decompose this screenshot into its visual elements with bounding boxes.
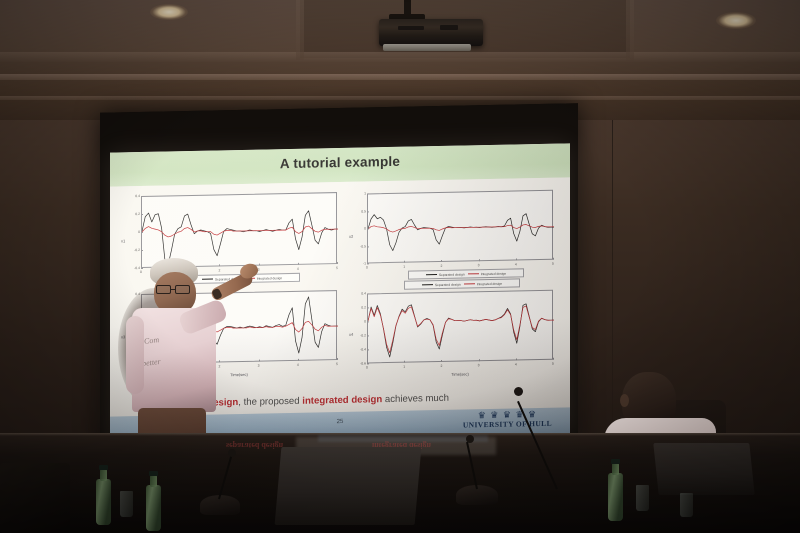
x-tick-label: 4 [512,362,520,366]
legend-swatch [422,284,433,285]
water-bottle-3 [608,473,623,521]
microphone-head-2 [466,435,474,443]
y-tick-label: 0.5 [355,209,366,213]
legend-label: Integrated design [477,281,502,286]
y-tick-mark [367,293,369,294]
y-tick-label: 0 [129,230,140,234]
legend-item: Separated design [422,282,461,287]
x-tick-label: 2 [437,363,445,367]
water-bottle-1-neck [100,469,107,481]
x-tick-label: 3 [475,263,483,267]
x-tick-mark [259,264,260,266]
legend-swatch [426,274,437,275]
y-tick-label: 0 [355,226,366,230]
y-tick-mark [141,214,143,215]
ceiling-cornice [0,74,800,80]
series-line [142,209,338,265]
x-tick-label: 5 [333,265,341,269]
water-bottle-3-neck [612,463,619,475]
y-tick-label: 0.4 [355,291,366,295]
presenter-shirt-logo-line1: Com [144,335,160,346]
water-bottle-2-neck [150,475,157,487]
x-tick-label: 4 [512,262,520,266]
x-tick-mark [553,258,554,260]
projector-vent-2 [440,25,458,30]
y-tick-label: -0.5 [355,244,366,248]
y-tick-mark [367,228,369,229]
water-bottle-1-cap [99,465,108,470]
water-bottle-2 [146,485,161,531]
presenter-glasses-right [175,285,190,294]
water-bottle-3-cap [611,459,620,464]
y-tick-label: 0.2 [129,212,140,216]
legend-label: Integrated design [257,276,282,281]
bullet-1-suffix: achieves much [382,393,449,405]
legend-label: Separated design [435,282,461,287]
legend-item: Integrated design [464,281,502,286]
x-tick-label: 3 [475,363,483,367]
chart-bottom-right-lines [368,291,554,365]
chart-bottom-right-ylabel: x4 [349,332,353,337]
x-tick-mark [298,359,299,361]
legend-label: Separated design [439,272,465,277]
x-tick-mark [553,358,554,360]
drinking-glass-3 [680,493,693,517]
x-tick-label: 2 [437,263,445,267]
x-tick-label: 5 [333,361,341,365]
y-tick-label: 0.2 [355,305,366,309]
conference-table: separated design integrated design [0,433,800,533]
slide-title: A tutorial example [110,150,570,174]
series-line [368,222,554,232]
chart-bottom-right: Separated designIntegrated design x4 -0.… [350,286,556,386]
chart-bottom-right-legend: Separated designIntegrated design [404,278,520,289]
y-tick-mark [367,321,369,322]
y-tick-label: -0.2 [355,333,366,337]
microphone-head-1 [228,449,236,457]
foreground-chair-back [0,463,70,533]
microphone-neck-1 [218,456,232,499]
x-tick-label: 4 [294,362,302,366]
bullet-1-highlight-integrated: integrated design [302,394,382,407]
x-tick-mark [337,262,338,264]
y-tick-label: 0.4 [129,194,140,198]
ceiling-beam-left [296,0,304,60]
y-tick-mark [367,193,369,194]
y-tick-mark [367,211,369,212]
chart-bottom-right-plot [367,290,553,364]
y-tick-mark [141,232,143,233]
y-tick-mark [367,335,369,336]
chart-top-right: x2 -1-0.500.51 012345 Separated designIn… [350,188,556,288]
y-tick-label: -0.4 [355,347,366,351]
presenter-glasses-left [156,285,171,294]
ceiling-light-left-icon [150,4,188,20]
y-tick-mark [141,250,143,251]
legend-label: Integrated design [481,271,506,276]
slide-page-number: 25 [337,419,344,425]
x-tick-label: 1 [400,364,408,368]
ceiling-beam-right [626,0,634,62]
x-tick-label: 0 [363,365,371,369]
presenter-glasses-bridge [171,289,175,290]
x-tick-mark [441,260,442,262]
drinking-glass-1 [120,491,133,517]
table-reflection-text-1: separated design [226,441,283,450]
x-tick-mark [298,263,299,265]
x-tick-mark [367,261,368,263]
x-tick-mark [516,258,517,260]
projector-lens [383,44,471,51]
series-line [368,304,554,353]
water-bottle-2-cap [149,471,158,476]
drinking-glass-2 [636,485,649,511]
series-line [142,223,338,238]
x-tick-label: 4 [294,266,302,270]
series-line [368,302,554,358]
ceiling-light-right-icon [716,12,756,29]
x-tick-mark [367,361,368,363]
chart-top-right-lines [368,191,554,265]
legend-swatch [464,283,475,284]
x-tick-mark [404,261,405,263]
chart-bottom-right-xlabel: Time(sec) [367,370,553,379]
x-tick-mark [479,259,480,261]
x-tick-label: 5 [549,361,557,365]
y-tick-label: 0 [355,319,366,323]
projector-body [379,19,483,46]
x-tick-label: 0 [363,265,371,269]
y-tick-mark [367,349,369,350]
x-tick-label: 5 [549,261,557,265]
legend-item: Separated design [426,272,465,277]
x-tick-label: 3 [255,363,263,367]
x-tick-label: 1 [400,264,408,268]
water-bottle-1 [96,479,111,525]
university-logo: ♛ ♛ ♛ ♛ ♛ UNIVERSITY OF HULL [463,410,552,430]
x-tick-mark [259,360,260,362]
attendee-ear [620,394,629,407]
university-name: UNIVERSITY OF HULL [463,419,552,430]
ceiling-beam-horizontal [0,52,800,62]
y-tick-mark [367,363,369,364]
legend-swatch [468,273,479,274]
y-tick-mark [141,196,143,197]
chart-top-right-ylabel: x2 [349,234,353,239]
ceiling-cornice-lower [0,96,800,100]
chart-top-right-plot [367,190,553,264]
projector-vent [398,26,424,30]
y-tick-mark [367,307,369,308]
y-tick-label: 1 [355,191,366,195]
table-mat [275,447,422,525]
table-mat-right [653,443,754,495]
x-tick-mark [337,358,338,360]
chart-top-left-ylabel: x1 [121,238,125,243]
x-tick-mark [516,358,517,360]
x-tick-mark [404,361,405,363]
y-tick-mark [367,246,369,247]
presenter-left-arm [126,316,144,394]
legend-item: Integrated design [468,271,506,276]
conference-room-scene: A tutorial example x1 -0.4-0.200.20.4 01… [0,0,800,533]
y-tick-mark [367,263,369,264]
x-tick-mark [479,359,480,361]
chart-top-left-plot [141,192,337,268]
x-tick-mark [441,360,442,362]
y-tick-label: -0.2 [129,248,140,252]
microphone-head-3 [514,387,523,396]
